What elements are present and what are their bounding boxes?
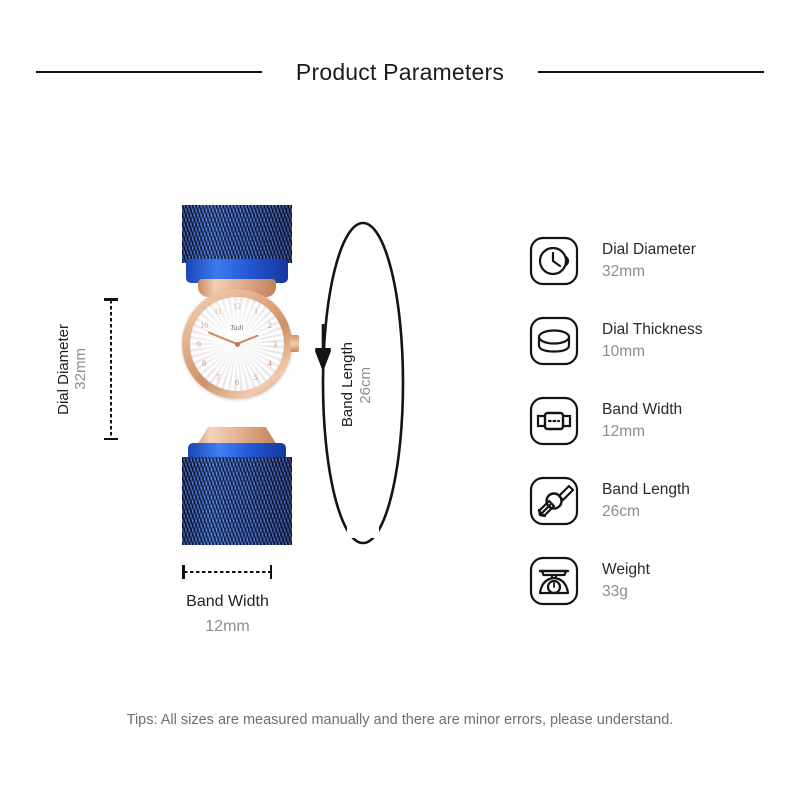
spec-label-dial-diameter: Dial Diameter: [602, 239, 696, 261]
dimension-cap-bottom: [104, 438, 118, 441]
watch-band-mesh-bottom: [182, 457, 292, 545]
spec-label-dial-thickness: Dial Thickness: [602, 319, 703, 341]
spec-row-band-length: Band Length 26cm: [528, 472, 788, 530]
spec-text-band-length: Band Length 26cm: [602, 479, 690, 524]
spec-label-band-width: Band Width: [602, 399, 682, 421]
spec-value-band-width: 12mm: [602, 421, 682, 443]
band-length-icon: [528, 475, 580, 527]
watch-numeral-9: 9: [191, 336, 207, 352]
footer-tip: Tips: All sizes are measured manually an…: [0, 712, 800, 728]
header-rule-right: [538, 71, 764, 73]
watch-numeral-1: 1: [248, 303, 264, 319]
spec-row-band-width: Band Width 12mm: [528, 392, 788, 450]
spec-row-dial-thickness: Dial Thickness 10mm: [528, 312, 788, 370]
watch-product-image: Tadi 123456789101112: [178, 205, 296, 545]
spec-text-dial-thickness: Dial Thickness 10mm: [602, 319, 703, 364]
watch-numeral-3: 3: [267, 336, 283, 352]
band-width-annotation: Band Width 12mm: [130, 590, 325, 640]
watch-numeral-6: 6: [229, 374, 245, 390]
band-length-annotation: Band Length 26cm: [340, 285, 373, 485]
watch-hour-hand: [237, 334, 259, 345]
watch-dial: Tadi 123456789101112: [190, 297, 284, 391]
watch-numeral-12: 12: [229, 298, 245, 314]
product-illustration: Dial Diameter 32mm Band Length 26cm Tadi…: [0, 180, 500, 660]
page-header: Product Parameters: [0, 52, 800, 92]
spec-label-weight: Weight: [602, 559, 650, 581]
spec-value-weight: 33g: [602, 581, 650, 603]
spec-label-band-length: Band Length: [602, 479, 690, 501]
page-title: Product Parameters: [262, 61, 538, 84]
watch-crown: [290, 335, 299, 352]
watch-numeral-11: 11: [210, 303, 226, 319]
header-rule-left: [36, 71, 262, 73]
specifications-list: Dial Diameter 32mm Dial Thickness 10mm: [528, 232, 788, 610]
dimension-dashed-line: [110, 300, 112, 438]
dial-diameter-annotation-value: 32mm: [73, 348, 88, 390]
spec-value-dial-thickness: 10mm: [602, 341, 703, 363]
watch-numeral-5: 5: [248, 369, 264, 385]
watch-numeral-7: 7: [210, 369, 226, 385]
disc-thickness-icon: [528, 315, 580, 367]
band-width-dimension-line: [182, 565, 272, 579]
dial-diameter-annotation: Dial Diameter 32mm: [56, 298, 88, 440]
spec-row-dial-diameter: Dial Diameter 32mm: [528, 232, 788, 290]
band-length-annotation-value: 26cm: [358, 367, 373, 404]
dial-diameter-dimension-line: [104, 298, 118, 440]
dial-diameter-annotation-label: Dial Diameter: [56, 324, 71, 415]
spec-value-band-length: 26cm: [602, 501, 690, 523]
spec-row-weight: Weight 33g: [528, 552, 788, 610]
spec-text-dial-diameter: Dial Diameter 32mm: [602, 239, 696, 284]
dimension-cap-right: [270, 565, 273, 579]
spec-value-dial-diameter: 32mm: [602, 261, 696, 283]
spec-text-band-width: Band Width 12mm: [602, 399, 682, 444]
watch-minute-hand: [208, 332, 237, 345]
watch-band-mesh-top: [182, 205, 292, 263]
band-width-annotation-label: Band Width: [130, 590, 325, 615]
spec-text-weight: Weight 33g: [602, 559, 650, 604]
watch-numeral-4: 4: [262, 355, 278, 371]
kitchen-scale-icon: [528, 555, 580, 607]
band-length-annotation-label: Band Length: [340, 342, 355, 427]
watch-center-pin: [235, 342, 240, 347]
watch-case: Tadi 123456789101112: [182, 289, 292, 399]
dimension-dashed-line-horizontal: [184, 571, 270, 573]
product-parameters-page: Product Parameters Dial Diameter 32mm Ba…: [0, 0, 800, 800]
band-width-icon: [528, 395, 580, 447]
watch-numeral-8: 8: [196, 355, 212, 371]
band-width-annotation-value: 12mm: [130, 615, 325, 640]
watch-dial-icon: [528, 235, 580, 287]
watch-brand-text: Tadi: [190, 324, 284, 332]
